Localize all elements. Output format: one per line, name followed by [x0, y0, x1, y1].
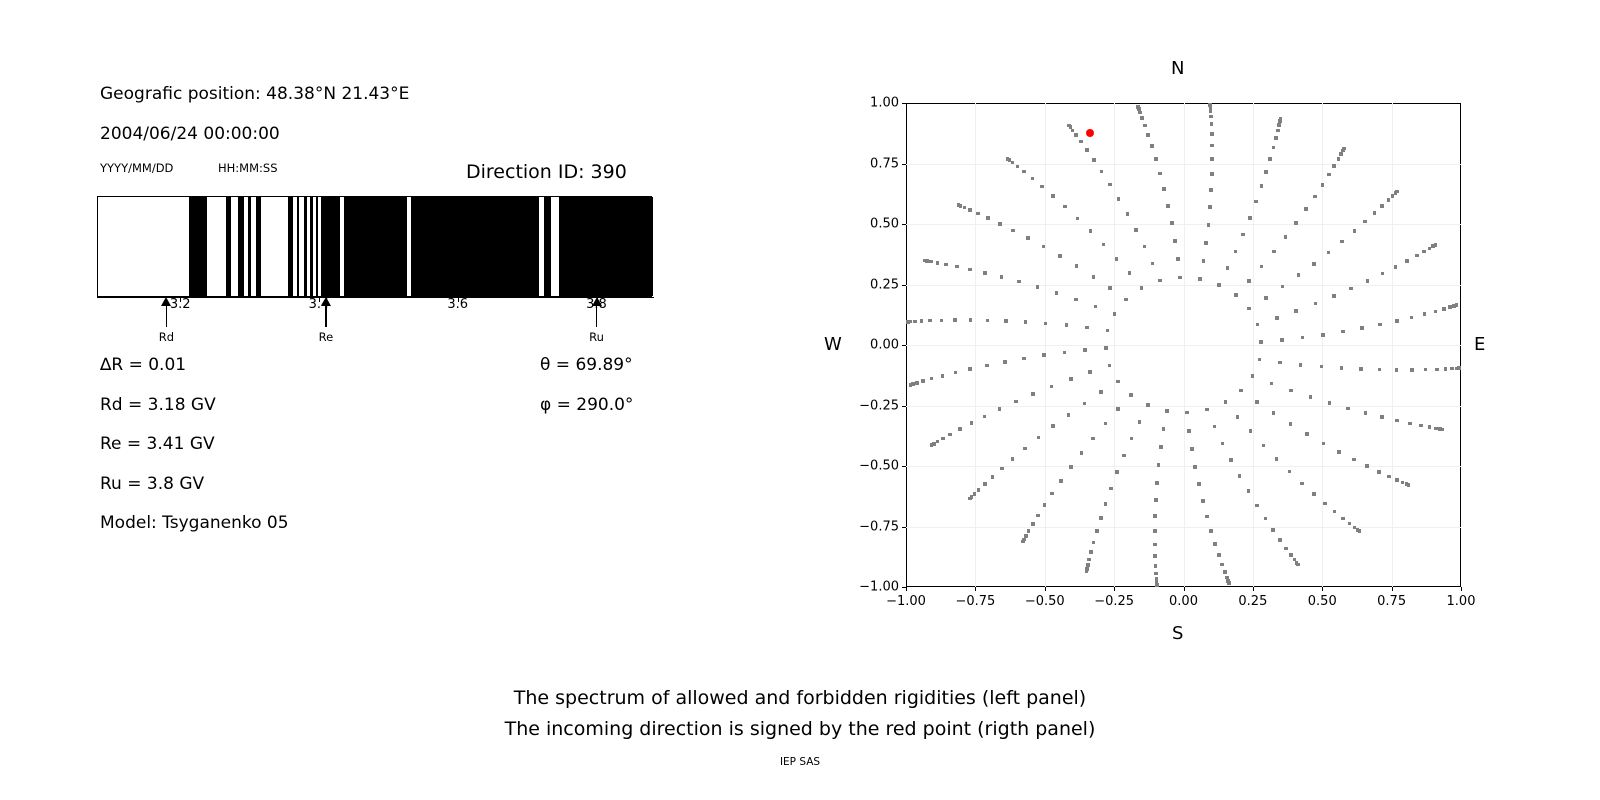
y-tick-mark [902, 345, 906, 346]
direction-dot [1415, 254, 1419, 258]
direction-dot [1092, 158, 1096, 162]
compass-label-north: N [1171, 58, 1184, 79]
direction-dot [1017, 280, 1021, 284]
direction-dot [1023, 447, 1027, 451]
direction-dot [1143, 245, 1147, 249]
y-tick-mark [902, 285, 906, 286]
direction-id-label: Direction ID: 390 [466, 161, 627, 183]
direction-dot [1220, 563, 1224, 567]
direction-dot [1278, 538, 1282, 542]
y-tick-mark [902, 527, 906, 528]
forbidden-band [304, 197, 307, 296]
direction-dot [1364, 411, 1368, 415]
direction-dot [913, 320, 917, 324]
gridline-horizontal [906, 466, 1461, 467]
direction-dot [1271, 528, 1275, 532]
direction-dot [1106, 329, 1110, 333]
direction-dot [1340, 366, 1344, 370]
direction-dot [1258, 358, 1262, 362]
direction-dot [1080, 451, 1084, 455]
direction-dot [1089, 550, 1093, 554]
direction-dot [1363, 220, 1367, 224]
direction-dot [983, 482, 987, 486]
x-tick-label: −1.00 [886, 594, 926, 609]
direction-dot [1024, 320, 1028, 324]
direction-dot [1207, 223, 1211, 227]
direction-dot [1455, 303, 1459, 307]
direction-dot [1187, 429, 1191, 433]
footer-credit: IEP SAS [0, 756, 1600, 768]
direction-dot [1094, 305, 1098, 309]
direction-dot [1153, 514, 1157, 518]
direction-dot [1312, 262, 1316, 266]
forbidden-band [288, 197, 293, 296]
direction-dot [1026, 236, 1030, 240]
direction-dot [1264, 296, 1268, 300]
y-tick-mark [902, 406, 906, 407]
forbidden-band [544, 197, 551, 296]
direction-dot [1198, 277, 1202, 281]
direction-dot [1297, 273, 1301, 277]
direction-dot [1116, 380, 1120, 384]
direction-dot [1011, 457, 1015, 461]
direction-dot [1272, 411, 1276, 415]
direction-dot [944, 263, 948, 267]
direction-dot [1301, 336, 1305, 340]
direction-dot [1274, 136, 1278, 140]
direction-dot [1159, 445, 1163, 449]
direction-dot [1185, 411, 1189, 415]
x-tick-label: 1.00 [1447, 594, 1476, 609]
direction-dot [1260, 184, 1264, 188]
direction-dot [976, 212, 980, 216]
direction-dot [1327, 251, 1331, 255]
direction-dot [1210, 157, 1214, 161]
direction-dot [985, 364, 989, 368]
direction-dot [1394, 265, 1398, 269]
direction-dot [1304, 207, 1308, 211]
direction-dot [991, 475, 995, 479]
direction-dot [1146, 133, 1150, 137]
x-tick-label: 0.25 [1238, 594, 1267, 609]
direction-dot [1381, 272, 1385, 276]
direction-dot [1014, 400, 1018, 404]
direction-dot [1299, 363, 1303, 367]
y-tick-label: −0.75 [859, 519, 899, 534]
direction-dot [1063, 351, 1067, 355]
direction-dot [1407, 483, 1411, 487]
direction-dot [1395, 419, 1399, 423]
direction-dot [941, 374, 945, 378]
direction-dot [1051, 194, 1055, 198]
direction-dot [1377, 470, 1381, 474]
direction-dot [1322, 442, 1326, 446]
direction-dot [1289, 553, 1293, 557]
direction-dot [1341, 330, 1345, 334]
direction-dot [1173, 239, 1177, 243]
direction-dot [1153, 529, 1157, 533]
direction-dot [1213, 542, 1217, 546]
direction-dot [1050, 492, 1054, 496]
direction-dot [1262, 444, 1266, 448]
direction-dot [1422, 250, 1426, 254]
direction-dot [1027, 529, 1031, 533]
direction-dot [1050, 385, 1054, 389]
stat-line-2: Re = 3.41 GV [100, 434, 215, 454]
direction-dot [1154, 572, 1158, 576]
direction-dot [1213, 425, 1217, 429]
marker-label-re: Re [319, 330, 334, 344]
direction-dot [1190, 447, 1194, 451]
direction-dot [1373, 211, 1377, 215]
direction-dot [1209, 529, 1213, 533]
y-tick-label: 1.00 [870, 96, 899, 111]
date-format-hint: YYYY/MM/DD [100, 161, 173, 175]
direction-dot [953, 318, 957, 322]
direction-dot [1130, 437, 1134, 441]
direction-dot [1044, 322, 1048, 326]
direction-dot [1378, 368, 1382, 372]
direction-dot [1395, 319, 1399, 323]
marker-arrow-re [319, 297, 333, 327]
direction-dot [1197, 482, 1201, 486]
direction-dot [1104, 502, 1108, 506]
direction-dot [1051, 424, 1055, 428]
direction-dot [998, 222, 1002, 226]
direction-dot [1348, 522, 1352, 526]
direction-dot [1205, 515, 1209, 519]
direction-dot [929, 260, 933, 264]
direction-dot [1154, 157, 1158, 161]
direction-dot [1074, 298, 1078, 302]
direction-dot [1000, 275, 1004, 279]
direction-dot [1428, 425, 1432, 429]
direction-dot [1314, 302, 1318, 306]
x-tick-mark [906, 587, 907, 591]
direction-dot [1328, 401, 1332, 405]
direction-dot [1209, 188, 1213, 192]
direction-dot [1327, 173, 1331, 177]
forbidden-band [248, 197, 251, 296]
direction-dot [1155, 583, 1159, 587]
compass-label-east: E [1474, 334, 1485, 355]
direction-dot [1323, 502, 1327, 506]
direction-dot [1099, 516, 1103, 520]
direction-dot [1071, 129, 1075, 133]
direction-dot [1076, 217, 1080, 221]
direction-dot [1138, 111, 1142, 115]
direction-dot [1457, 366, 1461, 370]
incoming-direction-point[interactable] [1086, 129, 1094, 137]
y-tick-label: 0.50 [870, 217, 899, 232]
x-tick-mark [1461, 587, 1462, 591]
direction-dot [1117, 197, 1121, 201]
direction-dot [1089, 229, 1093, 233]
direction-dot [1305, 432, 1309, 436]
direction-dot [986, 319, 990, 323]
direction-dot [1205, 408, 1209, 412]
forbidden-band [344, 197, 406, 296]
direction-dot [1450, 367, 1454, 371]
direction-dot [1255, 504, 1259, 508]
direction-dot [1083, 348, 1087, 352]
y-tick-mark [902, 103, 906, 104]
y-tick-label: 0.75 [870, 156, 899, 171]
compass-label-south: S [1172, 623, 1183, 644]
direction-dot [1158, 172, 1162, 176]
direction-dot [1247, 307, 1251, 311]
direction-dot [1036, 514, 1040, 518]
direction-dot [1275, 316, 1279, 320]
stat-line-1: Rd = 3.18 GV [100, 395, 216, 415]
direction-dot [1217, 283, 1221, 287]
forbidden-band [411, 197, 538, 296]
gridline-horizontal [906, 285, 1461, 286]
direction-dot [1410, 368, 1414, 372]
direction-dot [1255, 400, 1259, 404]
direction-dot [1075, 264, 1079, 268]
direction-dot [1365, 464, 1369, 468]
x-tick-mark [1392, 587, 1393, 591]
direction-dot [1040, 185, 1044, 189]
direction-dot [1278, 361, 1282, 365]
direction-dot [1058, 254, 1062, 258]
direction-dot [1395, 190, 1399, 194]
x-tick-label: −0.25 [1094, 594, 1134, 609]
time-format-hint: HH:MM:SS [218, 161, 278, 175]
direction-dot [906, 320, 910, 324]
direction-dot [1256, 323, 1260, 327]
direction-dot [1065, 323, 1069, 327]
direction-dot [1153, 554, 1157, 558]
direction-dot [1321, 333, 1325, 337]
direction-dot [1337, 450, 1341, 454]
direction-dot [1085, 326, 1089, 330]
direction-dot [983, 271, 987, 275]
x-tick-label: 0.50 [1308, 594, 1337, 609]
direction-dot [941, 437, 945, 441]
direction-dot [1202, 259, 1206, 263]
direction-dot [1254, 200, 1258, 204]
direction-dot [1280, 338, 1284, 342]
direction-dot [1321, 183, 1325, 187]
direction-dot [1126, 212, 1130, 216]
direction-dot [1288, 470, 1292, 474]
direction-dot [1366, 279, 1370, 283]
direction-dot [928, 319, 932, 323]
direction-dot [1204, 241, 1208, 245]
direction-dot [1289, 422, 1293, 426]
direction-dot [1234, 250, 1238, 254]
direction-dot [1352, 458, 1356, 462]
direction-dot [930, 443, 934, 447]
direction-dot [1085, 569, 1089, 573]
x-tick-mark [1184, 587, 1185, 591]
direction-dot [1022, 357, 1026, 361]
y-tick-label: −0.25 [859, 398, 899, 413]
direction-dot [1387, 475, 1391, 479]
direction-dot [1332, 294, 1336, 298]
direction-dot [948, 433, 952, 437]
direction-dot [1276, 129, 1280, 133]
forbidden-band [316, 197, 318, 296]
direction-dot [1236, 415, 1240, 419]
direction-dot [983, 415, 987, 419]
spectrum-background [97, 196, 652, 297]
direction-dot [1217, 553, 1221, 557]
direction-dot [1264, 170, 1268, 174]
direction-dot [968, 497, 972, 501]
direction-dot [1115, 257, 1119, 261]
direction-dot [940, 319, 944, 323]
direction-dot [968, 208, 972, 212]
forbidden-band [256, 197, 261, 296]
direction-dot [1091, 437, 1095, 441]
direction-dot [954, 371, 958, 375]
direction-dot [1387, 198, 1391, 202]
gridline-horizontal [906, 527, 1461, 528]
marker-label-rd: Rd [159, 330, 174, 344]
direction-dot [1395, 368, 1399, 372]
direction-dot [1031, 522, 1035, 526]
polar-direction-plot[interactable]: −1.00−0.75−0.50−0.250.000.250.500.751.00… [906, 103, 1461, 587]
direction-dot [1249, 429, 1253, 433]
direction-dot [1339, 152, 1343, 156]
direction-dot [1223, 570, 1227, 574]
direction-dot [1165, 409, 1169, 413]
direction-dot [968, 268, 972, 272]
gridline-horizontal [906, 406, 1461, 407]
direction-dot [1296, 563, 1300, 567]
y-tick-label: 0.00 [870, 338, 899, 353]
direction-dot [1444, 367, 1448, 371]
direction-dot [1224, 400, 1228, 404]
direction-dot [1104, 422, 1108, 426]
direction-dot [1210, 122, 1214, 126]
direction-dot [1154, 564, 1158, 568]
direction-dot [1342, 147, 1346, 151]
direction-dot [1234, 293, 1238, 297]
direction-dot [1100, 170, 1104, 174]
direction-dot [998, 407, 1002, 411]
direction-dot [1395, 478, 1399, 482]
direction-dot [1247, 489, 1251, 493]
direction-dot [1434, 243, 1438, 247]
direction-dot [1229, 458, 1233, 462]
forbidden-band [559, 197, 653, 296]
forbidden-band [297, 197, 299, 296]
direction-dot [1333, 510, 1337, 514]
direction-dot [1022, 170, 1026, 174]
direction-dot [1419, 424, 1423, 428]
direction-dot [1108, 286, 1112, 290]
direction-dot [1003, 360, 1007, 364]
direction-dot [1341, 517, 1345, 521]
x-tick-label: −0.50 [1025, 594, 1065, 609]
direction-dot [1340, 240, 1344, 244]
direction-dot [1031, 177, 1035, 181]
direction-dot [1011, 161, 1015, 165]
direction-dot [1138, 420, 1142, 424]
direction-dot [1435, 368, 1439, 372]
direction-dot [1210, 132, 1214, 136]
direction-dot [1441, 428, 1445, 432]
direction-dot [1346, 407, 1350, 411]
direction-dot [1162, 427, 1166, 431]
direction-dot [1281, 285, 1285, 289]
direction-dot [1434, 427, 1438, 431]
direction-dot [1239, 389, 1243, 393]
direction-dot [1270, 382, 1274, 386]
direction-dot [920, 319, 924, 323]
direction-dot [1320, 365, 1324, 369]
x-tick-mark [1045, 587, 1046, 591]
direction-dot [1004, 319, 1008, 323]
direction-dot [1277, 123, 1281, 127]
direction-dot [1380, 415, 1384, 419]
direction-dot [1021, 540, 1025, 544]
direction-dot [1108, 364, 1112, 368]
x-tick-mark [975, 587, 976, 591]
direction-dot [1241, 233, 1245, 237]
direction-dot [1136, 105, 1140, 109]
direction-dot [1109, 487, 1113, 491]
datetime-value: 2004/06/24 00:00:00 [100, 124, 280, 144]
direction-dot [1337, 157, 1341, 161]
direction-dot [1157, 463, 1161, 467]
direction-dot [1031, 392, 1035, 396]
direction-dot [1113, 312, 1117, 316]
caption-line-1: The spectrum of allowed and forbidden ri… [0, 687, 1600, 709]
direction-dot [1085, 148, 1089, 152]
direction-dot [1279, 117, 1283, 121]
direction-dot [1358, 529, 1362, 533]
x-tick-mark [1114, 587, 1115, 591]
direction-dot [970, 421, 974, 425]
direction-dot [1151, 262, 1155, 266]
gridline-horizontal [906, 224, 1461, 225]
direction-dot [1275, 457, 1279, 461]
direction-dot [1043, 503, 1047, 507]
direction-dot [1000, 467, 1004, 471]
direction-dot [963, 206, 967, 210]
direction-dot [1069, 465, 1073, 469]
direction-dot [1209, 109, 1213, 113]
direction-dot [1313, 195, 1317, 199]
direction-dot [1146, 403, 1150, 407]
direction-dot [1140, 116, 1144, 120]
y-tick-mark [902, 224, 906, 225]
forbidden-band [226, 197, 231, 296]
direction-dot [1079, 140, 1083, 144]
direction-dot [1251, 374, 1255, 378]
marker-arrow-rd [160, 297, 174, 327]
forbidden-band [310, 197, 313, 296]
direction-dot [1289, 389, 1293, 393]
rigidity-spectrum-bar [97, 196, 652, 297]
direction-dot [1011, 229, 1015, 233]
direction-dot [1042, 353, 1046, 357]
y-tick-mark [902, 466, 906, 467]
direction-dot [1300, 482, 1304, 486]
direction-dot [1442, 307, 1446, 311]
direction-dot [1294, 309, 1298, 313]
direction-dot [1059, 479, 1063, 483]
direction-dot [1166, 204, 1170, 208]
geographic-position: Geografic position: 48.38°N 21.43°E [100, 84, 409, 104]
direction-dot [921, 379, 925, 383]
x-tick-mark [1322, 587, 1323, 591]
